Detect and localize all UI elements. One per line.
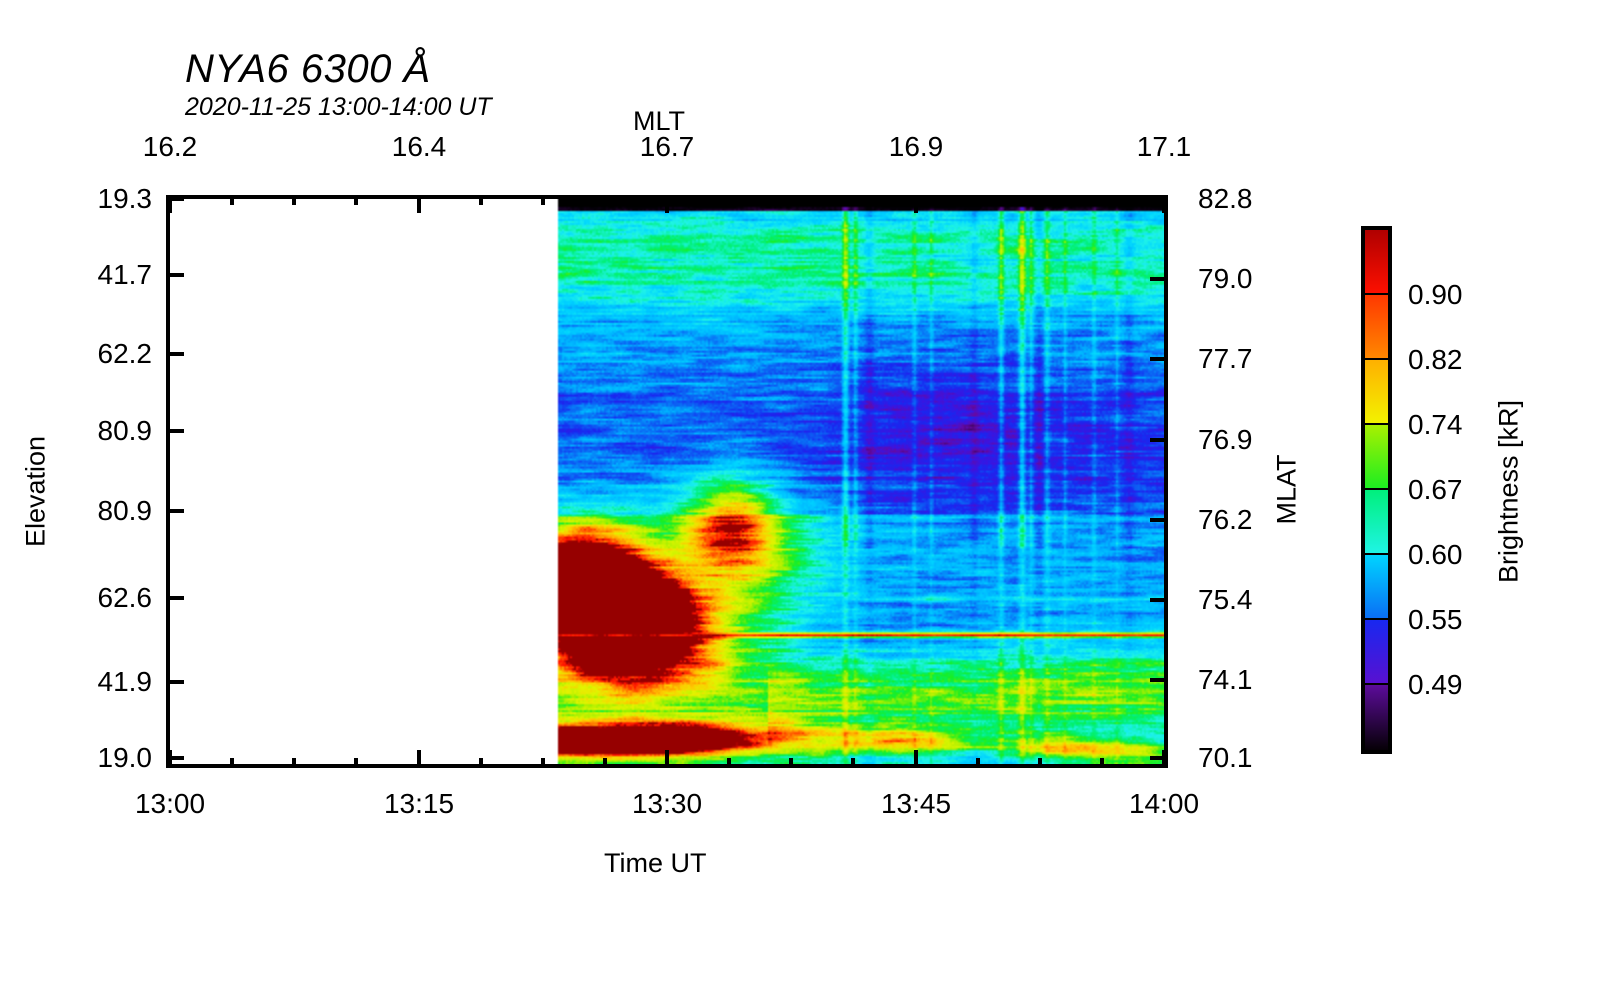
mlat-tick-1 [1150, 277, 1168, 281]
colorbar-tick-label-0: 0.90 [1408, 279, 1463, 311]
elevation-tick-1 [166, 273, 184, 277]
mlat-tick-label-3: 76.9 [1198, 424, 1253, 456]
colorbar [1361, 226, 1392, 754]
mlat-tick-0 [1150, 197, 1168, 201]
mlat-tick-label-6: 74.1 [1198, 664, 1253, 696]
time-tick-label-0: 13:00 [135, 788, 205, 820]
time-minor-tick-3-3 [1100, 758, 1104, 768]
colorbar-band-7 [1365, 685, 1388, 750]
elevation-tick-label-1: 41.7 [60, 259, 152, 291]
brightness-axis-title: Brightness [kR] [1494, 372, 1525, 612]
page-title: NYA6 6300 Å [185, 47, 431, 92]
colorbar-tick-label-5: 0.55 [1408, 604, 1463, 636]
mlat-tick-4 [1150, 518, 1168, 522]
mlat-tick-label-4: 76.2 [1198, 504, 1253, 536]
time-tick-label-2: 13:30 [632, 788, 702, 820]
mlat-tick-label-2: 77.7 [1198, 343, 1253, 375]
elevation-tick-label-5: 62.6 [60, 582, 152, 614]
elevation-tick-7 [166, 756, 184, 760]
mlat-tick-label-5: 75.4 [1198, 584, 1253, 616]
time-minor-tick-3-1 [976, 758, 980, 768]
mlt-tick-1 [417, 195, 421, 213]
time-minor-tick-2-1 [727, 758, 731, 768]
elevation-tick-label-4: 80.9 [60, 495, 152, 527]
mlt-tick-label-2: 16.7 [640, 131, 695, 163]
mlat-tick-label-1: 79.0 [1198, 263, 1253, 295]
elevation-tick-label-7: 19.0 [60, 742, 152, 774]
chart-subtitle: 2020-11-25 13:00-14:00 UT [185, 93, 492, 122]
time-minor-tick-1-3 [603, 758, 607, 768]
mlt-minor-tick-0-2 [292, 195, 296, 205]
colorbar-tick-label-2: 0.74 [1408, 409, 1463, 441]
mlt-tick-label-1: 16.4 [392, 131, 447, 163]
mlt-tick-label-3: 16.9 [889, 131, 944, 163]
time-tick-1 [417, 750, 421, 768]
mlt-minor-tick-2-3 [851, 195, 855, 205]
colorbar-band-4 [1365, 490, 1388, 555]
colorbar-band-5 [1365, 555, 1388, 620]
time-minor-tick-2-3 [851, 758, 855, 768]
time-minor-tick-0-1 [230, 758, 234, 768]
mlt-minor-tick-1-3 [603, 195, 607, 205]
time-axis-title: Time UT [604, 848, 707, 879]
mlt-tick-3 [914, 195, 918, 213]
mlat-tick-7 [1150, 756, 1168, 760]
elevation-tick-label-3: 80.9 [60, 415, 152, 447]
mlat-tick-6 [1150, 678, 1168, 682]
time-tick-2 [665, 750, 669, 768]
time-tick-label-1: 13:15 [384, 788, 454, 820]
mlat-tick-label-7: 70.1 [1198, 742, 1253, 774]
elevation-tick-0 [166, 197, 184, 201]
mlt-minor-tick-1-1 [479, 195, 483, 205]
colorbar-tick-label-6: 0.49 [1408, 669, 1463, 701]
elevation-tick-label-2: 62.2 [60, 338, 152, 370]
mlt-minor-tick-3-1 [976, 195, 980, 205]
mlat-axis-title: MLAT [1272, 420, 1303, 560]
time-minor-tick-1-1 [479, 758, 483, 768]
colorbar-tick-label-3: 0.67 [1408, 474, 1463, 506]
mlt-minor-tick-1-2 [541, 195, 545, 205]
elevation-tick-2 [166, 352, 184, 356]
time-tick-label-3: 13:45 [881, 788, 951, 820]
elevation-axis-title: Elevation [21, 412, 52, 572]
time-minor-tick-3-2 [1038, 758, 1042, 768]
mlt-minor-tick-0-1 [230, 195, 234, 205]
elevation-tick-4 [166, 509, 184, 513]
colorbar-band-1 [1365, 295, 1388, 360]
mlat-tick-3 [1150, 438, 1168, 442]
plot-area [166, 195, 1168, 768]
mlt-minor-tick-2-1 [727, 195, 731, 205]
mlt-tick-2 [665, 195, 669, 213]
mlt-minor-tick-3-2 [1038, 195, 1042, 205]
mlt-tick-label-0: 16.2 [143, 131, 198, 163]
colorbar-band-3 [1365, 425, 1388, 490]
colorbar-tick-label-4: 0.60 [1408, 539, 1463, 571]
keogram-image [170, 199, 1168, 764]
mlt-minor-tick-0-3 [354, 195, 358, 205]
time-minor-tick-1-2 [541, 758, 545, 768]
time-minor-tick-2-2 [789, 758, 793, 768]
mlat-tick-2 [1150, 357, 1168, 361]
elevation-tick-6 [166, 680, 184, 684]
time-minor-tick-0-3 [354, 758, 358, 768]
colorbar-band-0 [1365, 230, 1388, 295]
keogram-figure: NYA6 6300 Å 2020-11-25 13:00-14:00 UT ML… [0, 0, 1600, 1000]
colorbar-tick-label-1: 0.82 [1408, 344, 1463, 376]
elevation-tick-label-6: 41.9 [60, 666, 152, 698]
elevation-tick-5 [166, 596, 184, 600]
mlt-minor-tick-2-2 [789, 195, 793, 205]
mlat-tick-5 [1150, 598, 1168, 602]
time-minor-tick-0-2 [292, 758, 296, 768]
time-tick-label-4: 14:00 [1129, 788, 1199, 820]
mlt-tick-label-4: 17.1 [1137, 131, 1192, 163]
time-tick-3 [914, 750, 918, 768]
colorbar-band-2 [1365, 360, 1388, 425]
elevation-tick-3 [166, 429, 184, 433]
mlat-tick-label-0: 82.8 [1198, 183, 1253, 215]
elevation-tick-label-0: 19.3 [60, 183, 152, 215]
colorbar-band-6 [1365, 620, 1388, 685]
mlt-minor-tick-3-3 [1100, 195, 1104, 205]
